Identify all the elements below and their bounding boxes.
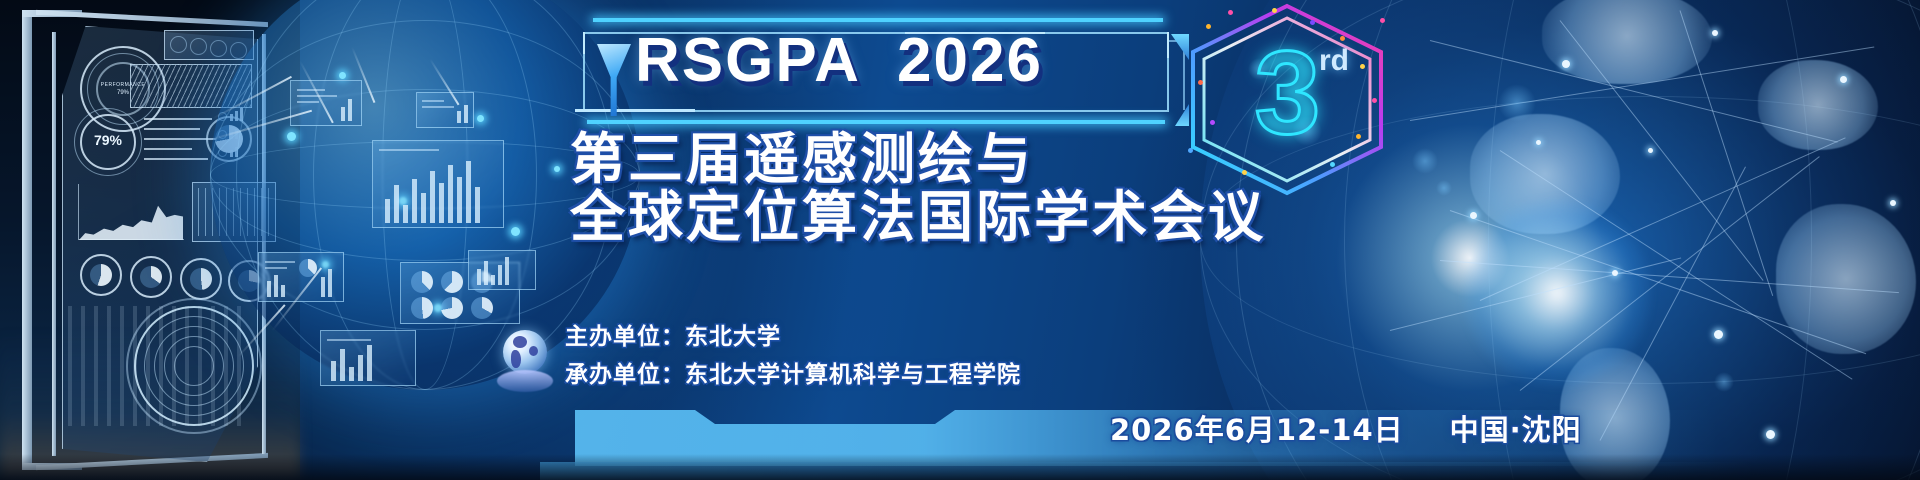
edition-suffix: rd (1319, 44, 1349, 78)
organizer-line: 主办单位：东北大学 (565, 318, 1265, 356)
data-card-top-right (416, 92, 474, 128)
date-location-block: 2026年6月12-14日 中国·沈阳 (1110, 406, 1582, 450)
conference-title-cn-line2: 全球定位算法国际学术会议 (570, 188, 1330, 246)
globe-icon (497, 330, 553, 392)
bottom-vignette-decor (0, 454, 1920, 480)
organizer-line: 承办单位：东北大学计算机科学与工程学院 (565, 356, 1265, 394)
conference-location: 中国·沈阳 (1450, 407, 1582, 449)
hud-gauge-value: 79% (80, 132, 136, 148)
data-card-small-top (290, 80, 362, 126)
organizer-block: 主办单位：东北大学 承办单位：东北大学计算机科学与工程学院 (565, 318, 1265, 394)
conference-banner: PERFORMANCE 79% 79% (0, 0, 1920, 480)
data-card-right-mid (468, 250, 536, 290)
conference-title-cn-line1: 第三届遥感测绘与 (570, 130, 1330, 188)
conference-title-cn: 第三届遥感测绘与 全球定位算法国际学术会议 (570, 130, 1330, 246)
data-card-bottom (320, 330, 416, 386)
data-card-bar-chart (372, 140, 504, 228)
conference-date: 2026年6月12-14日 (1110, 407, 1404, 449)
